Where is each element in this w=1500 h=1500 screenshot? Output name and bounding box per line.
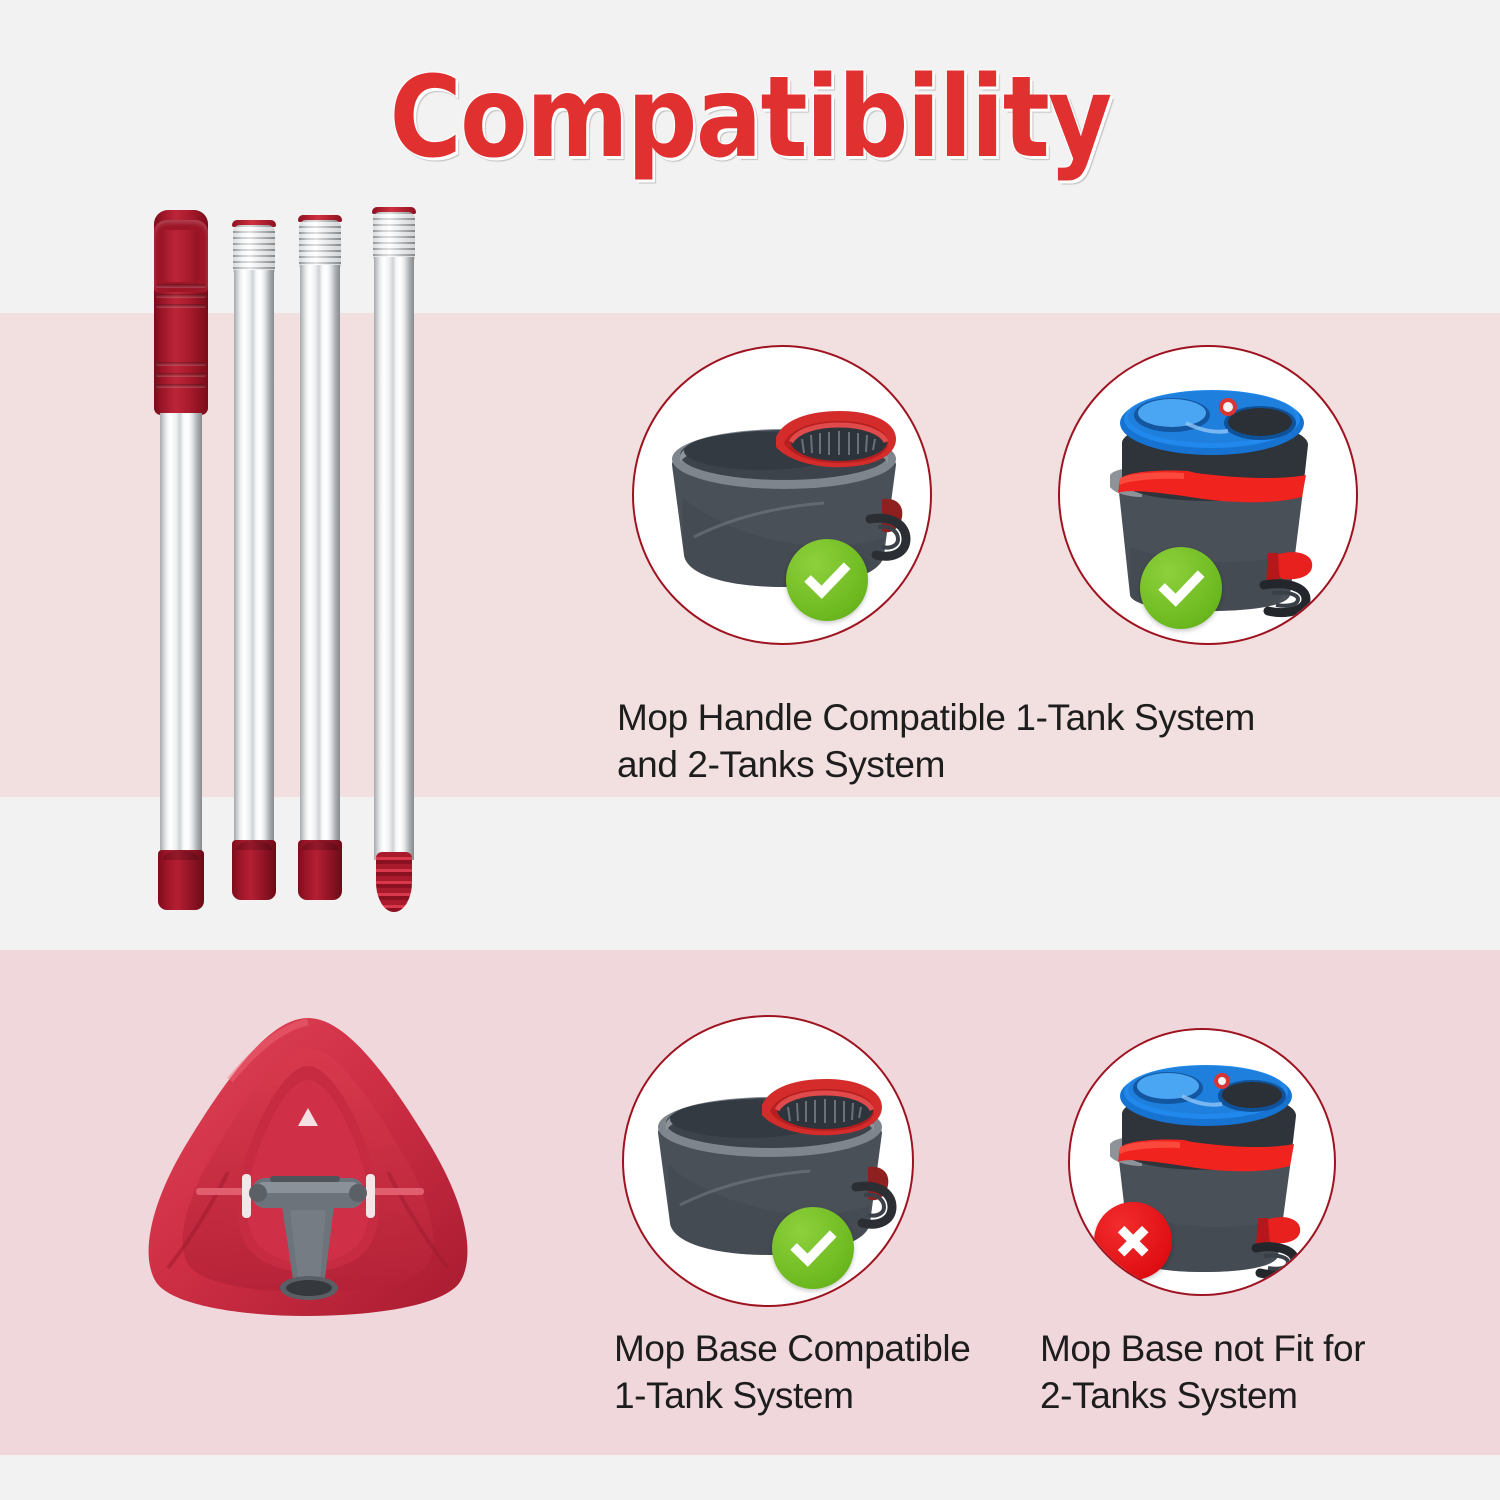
status-badge-cross [1094,1202,1172,1280]
pole-extension-1 [234,220,274,900]
compat-circle-base-2tank [1068,1028,1336,1296]
pole-ribbed-head [299,220,341,268]
pole-screw-tip [376,852,412,912]
pole-end-cap [158,850,204,910]
mop-base-illustration [110,1000,510,1330]
check-icon [1156,563,1207,614]
bucket-1tank-illustration [634,347,932,645]
caption-mop-base-1tank: Mop Base Compatible 1-Tank System [614,1325,1034,1420]
check-icon [788,1223,839,1274]
pole-ribbed-head [233,225,275,273]
compat-circle-handle-2tank [1058,345,1358,645]
pole-chrome-tube [374,257,414,860]
pole-end-cap [232,840,276,900]
infographic-canvas: Compatibility [0,0,1500,1500]
caption-mop-handle: Mop Handle Compatible 1-Tank System and … [617,694,1377,789]
caption-mop-base-2tank: Mop Base not Fit for 2-Tanks System [1040,1325,1460,1420]
cross-icon [1109,1217,1157,1265]
pole-chrome-tube [160,413,202,858]
pole-grip-handle [160,210,202,910]
hanging-loop-icon [154,220,208,292]
bucket-1tank-illustration [624,1017,914,1307]
pole-red-grip [154,210,208,415]
pole-ribbed-head [373,212,415,260]
page-title: Compatibility [90,60,1410,178]
pole-end-cap [298,840,342,900]
compat-circle-base-1tank [622,1015,914,1307]
status-badge-check [1140,547,1222,629]
check-icon [802,555,853,606]
pole-threaded [374,207,414,917]
status-badge-check [772,1207,854,1289]
pole-chrome-tube [234,270,274,846]
pole-chrome-tube [300,265,340,846]
compat-circle-handle-1tank [632,345,932,645]
pole-extension-2 [300,215,340,900]
status-badge-check [786,539,868,621]
